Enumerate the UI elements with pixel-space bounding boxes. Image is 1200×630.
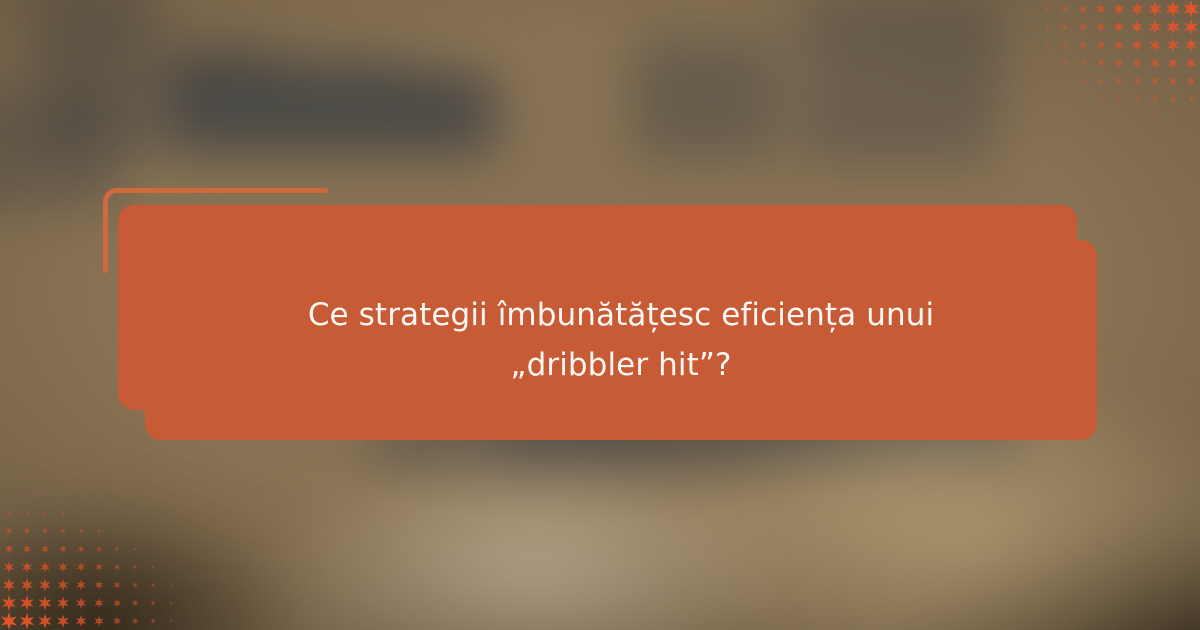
page-title: Ce strategii îmbunătățesc eficiența unui… xyxy=(271,290,971,390)
og-image-canvas: Ce strategii îmbunătățesc eficiența unui… xyxy=(0,0,1200,630)
card-text-area: Ce strategii îmbunătățesc eficiența unui… xyxy=(145,240,1097,440)
